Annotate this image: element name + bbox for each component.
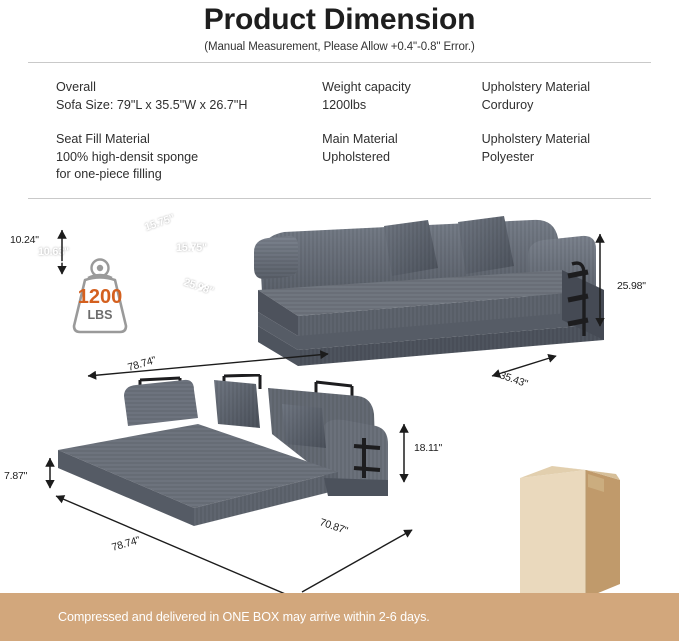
spec-label: Overall	[56, 79, 322, 97]
sofa-bed-illustration	[28, 374, 448, 554]
dim-pillow-width: 15.75"	[176, 242, 207, 254]
illustration-stage: 1200 LBS	[0, 196, 679, 594]
weight-icon: 1200 LBS	[58, 258, 142, 340]
dim-armrest-height: 10.24"	[10, 234, 39, 246]
spec-cell-seat-fill-material: Seat Fill Material 100% high-densit spon…	[28, 131, 322, 184]
spec-value: Polyester	[482, 149, 651, 167]
page-header: Product Dimension (Manual Measurement, P…	[0, 0, 679, 53]
spec-cell-upholstery-material: Upholstery Material Corduroy	[482, 79, 651, 114]
bed-pillow-2	[282, 404, 326, 448]
dim-total-width: 78.74"	[126, 354, 157, 373]
dim-seat-depth: 25.98"	[182, 276, 215, 297]
table-row: Seat Fill Material 100% high-densit spon…	[28, 131, 651, 184]
spec-value-line2: for one-piece filling	[56, 166, 322, 184]
spec-value: 100% high-densit sponge	[56, 149, 322, 167]
spec-label: Upholstery Material	[482, 79, 651, 97]
spec-label: Upholstery Material	[482, 131, 651, 149]
folded-sofa-illustration	[232, 204, 632, 389]
spec-cell-main-material: Main Material Upholstered	[322, 131, 481, 184]
spec-cell-overall: Overall Sofa Size: 79"L x 35.5"W x 26.7"…	[28, 79, 322, 114]
spec-label: Main Material	[322, 131, 481, 149]
page-title: Product Dimension	[0, 2, 679, 38]
spec-label: Seat Fill Material	[56, 131, 322, 149]
spec-value: Upholstered	[322, 149, 481, 167]
weight-number: 1200	[78, 286, 123, 308]
pillow-2	[458, 216, 514, 274]
spec-cell-upholstery-material-2: Upholstery Material Polyester	[482, 131, 651, 184]
dim-total-height: 25.98"	[617, 280, 646, 292]
spec-cell-weight-capacity: Weight capacity 1200lbs	[322, 79, 481, 114]
page-subtitle: (Manual Measurement, Please Allow +0.4"-…	[0, 41, 679, 53]
dim-mattress-thickness: 7.87"	[4, 470, 27, 482]
shipping-banner-text: Compressed and delivered in ONE BOX may …	[58, 610, 430, 624]
shipping-banner: Compressed and delivered in ONE BOX may …	[0, 593, 679, 641]
dim-back-height: 18.11"	[414, 442, 442, 454]
dim-pillow-height: 15.75"	[143, 212, 176, 233]
spec-value: 1200lbs	[322, 97, 481, 115]
spec-label: Weight capacity	[322, 79, 481, 97]
dim-armrest-width: 10.63"	[38, 246, 69, 258]
weight-unit: LBS	[88, 308, 113, 322]
weight-capacity-badge: 1200 LBS	[58, 258, 142, 340]
bed-pillow-1	[214, 380, 260, 428]
shipping-box-illustration	[508, 458, 630, 603]
table-row: Overall Sofa Size: 79"L x 35.5"W x 26.7"…	[28, 79, 651, 114]
specification-table: Overall Sofa Size: 79"L x 35.5"W x 26.7"…	[28, 62, 651, 199]
spec-value: Corduroy	[482, 97, 651, 115]
spec-value: Sofa Size: 79"L x 35.5"W x 26.7"H	[56, 97, 322, 115]
